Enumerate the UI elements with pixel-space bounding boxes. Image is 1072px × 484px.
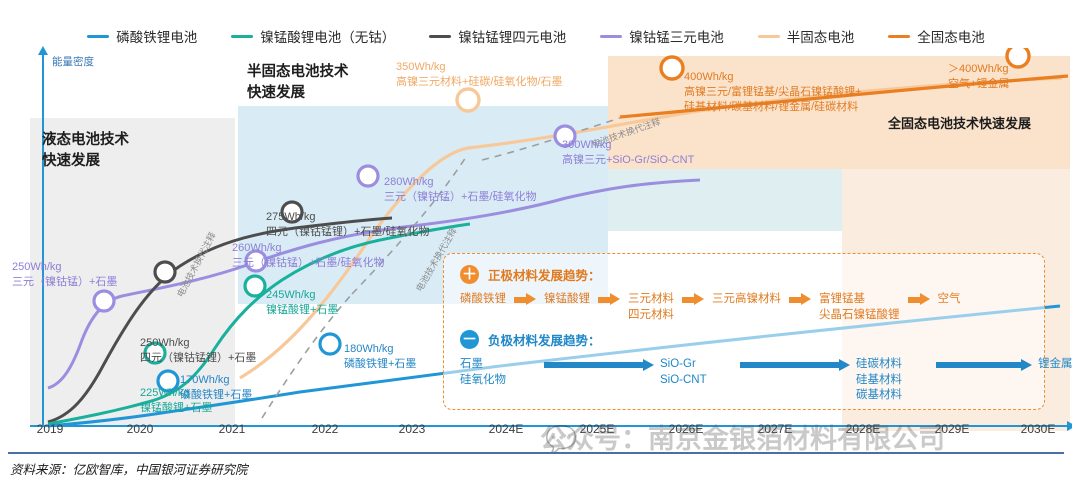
annotation-nmo-245-material: 镍锰酸锂+石墨 (266, 303, 338, 318)
cathode-node-6-line1: 空气 (938, 292, 961, 308)
cathode-title: 正极材料发展趋势： (488, 265, 601, 284)
x-tick-2019: 2019 (37, 422, 64, 436)
anode-title: 负极材料发展趋势： (488, 330, 601, 349)
anode-node-3-line2: 硅基材料 (856, 373, 930, 389)
cathode-node-1: 磷酸铁锂 (460, 292, 506, 308)
anode-node-2-line1: SiO-Gr (660, 357, 734, 373)
annotation-ncm-280-material: 三元（镍钴锰）+石墨/硅氧化物 (384, 190, 536, 205)
footer-divider (8, 452, 1064, 454)
annotation-solid-400-value: 400Wh/kg (684, 70, 862, 85)
legend-swatch-quaternary (429, 35, 451, 38)
marker-ncm-300 (358, 166, 378, 186)
annotation-quad-275: 275Wh/kg 四元（镍钴锰锂）+石墨/硅氧化物 (266, 210, 429, 240)
cathode-node-3-line1: 三元材料 (628, 292, 674, 308)
legend-swatch-nmo (231, 35, 253, 38)
plus-icon: ＋ (460, 265, 479, 284)
annotation-ncm-280: 280Wh/kg 三元（镍钴锰）+石墨/硅氧化物 (384, 175, 536, 205)
annotation-quad-250-value: 250Wh/kg (140, 336, 256, 351)
marker-lfp-180 (320, 334, 340, 354)
annotation-solid-400plus-value: ＞400Wh/kg (948, 62, 1009, 77)
annotation-ncm-260-value: 260Wh/kg (232, 241, 384, 256)
marker-ncm-250 (94, 291, 114, 311)
anode-node-2-line2: SiO-CNT (660, 373, 734, 389)
legend-label-lfp: 磷酸铁锂电池 (116, 26, 197, 46)
annotation-quad-250-material: 四元（镍钴锰锂）+石墨 (140, 351, 256, 366)
cathode-node-4: 三元高镍材料 (712, 292, 781, 308)
annotation-semi-350-value: 350Wh/kg (396, 60, 563, 75)
annotation-solid-400plus: ＞400Wh/kg 空气+锂金属 (948, 62, 1009, 92)
minus-icon: － (460, 330, 479, 349)
annotation-quad-275-material: 四元（镍钴锰锂）+石墨/硅氧化物 (266, 225, 429, 240)
chart-plot-area: 能量密度 液态电池技术 快速发展 半固态电池技术 快速发展 全固态电池技术快速发… (0, 48, 1072, 428)
annotation-ncm-250-value: 250Wh/kg (12, 260, 117, 275)
x-tick-2020: 2020 (127, 422, 154, 436)
cathode-node-5-line2: 尖晶石镍锰酸锂 (819, 308, 900, 324)
legend-label-quaternary: 镍钴锰锂四元电池 (458, 26, 566, 46)
anode-node-3-line3: 碳基材料 (856, 388, 930, 404)
annotation-lfp-170-material: 磷酸铁锂+石墨 (180, 388, 252, 403)
anode-title-row: － 负极材料发展趋势： (460, 330, 601, 349)
annotation-solid-400: 400Wh/kg 高镍三元/富锂锰基/尖晶石镍锰酸锂+ 硅基材料/碳基材料/锂金… (684, 70, 862, 115)
cathode-node-3-line2: 四元材料 (628, 308, 674, 324)
anode-node-3: 硅碳材料 硅基材料 碳基材料 (856, 357, 930, 404)
anode-node-1: 石墨 硅氧化物 (460, 357, 538, 388)
legend-label-allsolid: 全固态电池 (917, 26, 985, 46)
cathode-node-5-line1: 富锂锰基 (819, 292, 900, 308)
anode-node-2: SiO-Gr SiO-CNT (660, 357, 734, 388)
anode-node-1-line1: 石墨 (460, 357, 538, 373)
arrow-right-icon (682, 294, 704, 305)
annotation-ncm-300-value: 300Wh/kg (562, 138, 694, 153)
legend-label-ncm: 镍钴锰三元电池 (629, 26, 724, 46)
x-tick-2024E: 2024E (489, 422, 524, 436)
x-tick-2030E: 2030E (1021, 422, 1056, 436)
legend-swatch-ncm (600, 35, 622, 38)
annotation-ncm-260: 260Wh/kg 三元（镍钴锰）+石墨/硅氧化物 (232, 241, 384, 271)
legend-item-ncm: 镍钴锰三元电池 (600, 26, 724, 46)
cathode-node-3: 三元材料 四元材料 (628, 292, 674, 323)
arrow-right-icon (544, 359, 654, 370)
annotation-quad-275-value: 275Wh/kg (266, 210, 429, 225)
annotation-lfp-180-value: 180Wh/kg (344, 342, 416, 357)
arrow-right-icon (514, 294, 536, 305)
arrow-right-icon (789, 294, 811, 305)
annotation-semi-350-material: 高镍三元材料+硅碳/硅氧化物/石墨 (396, 75, 563, 90)
arrow-right-icon (598, 294, 620, 305)
annotation-lfp-180: 180Wh/kg 磷酸铁锂+石墨 (344, 342, 416, 372)
cathode-chain: 磷酸铁锂 镍锰酸锂 三元材料 四元材料 三元高镍材料 富锂锰基 尖晶石镍锰酸锂 (460, 292, 961, 323)
cathode-node-1-line1: 磷酸铁锂 (460, 292, 506, 308)
annotation-solid-400-material-line2: 硅基材料/碳基材料/锂金属/硅碳材料 (684, 100, 862, 115)
cathode-node-2-line1: 镍锰酸锂 (544, 292, 590, 308)
annotation-semi-350: 350Wh/kg 高镍三元材料+硅碳/硅氧化物/石墨 (396, 60, 563, 90)
cathode-node-2: 镍锰酸锂 (544, 292, 590, 308)
x-tick-2021: 2021 (219, 422, 246, 436)
arrow-right-icon (740, 359, 850, 370)
source-note: 资料来源：亿欧智库，中国银河证券研究院 (10, 459, 248, 478)
annotation-solid-400-material-line1: 高镍三元/富锂锰基/尖晶石镍锰酸锂+ (684, 85, 862, 100)
legend-label-semisolid: 半固态电池 (787, 26, 855, 46)
legend-swatch-allsolid (888, 35, 910, 38)
annotation-ncm-300: 300Wh/kg 高镍三元+SiO-Gr/SiO-CNT (562, 138, 694, 168)
annotation-lfp-170: 170Wh/kg 磷酸铁锂+石墨 (180, 373, 252, 403)
cathode-node-5: 富锂锰基 尖晶石镍锰酸锂 (819, 292, 900, 323)
cathode-title-row: ＋ 正极材料发展趋势： (460, 265, 601, 284)
anode-node-4: 锂金属 (1038, 357, 1072, 373)
anode-chain: 石墨 硅氧化物 SiO-Gr SiO-CNT 硅碳材料 硅基材料 碳基材料 锂金… (460, 357, 1072, 404)
arrow-right-icon (908, 294, 930, 305)
annotation-solid-400plus-material: 空气+锂金属 (948, 77, 1009, 92)
annotation-ncm-260-material: 三元（镍钴锰）+石墨/硅氧化物 (232, 256, 384, 271)
annotation-lfp-170-value: 170Wh/kg (180, 373, 252, 388)
arrow-right-icon (936, 359, 1032, 370)
annotation-ncm-250-material: 三元（镍钴锰）+石墨 (12, 275, 117, 290)
material-trends-inset: ＋ 正极材料发展趋势： 磷酸铁锂 镍锰酸锂 三元材料 四元材料 三元高镍材料 富… (443, 253, 1045, 410)
x-tick-2023: 2023 (399, 422, 426, 436)
legend-item-semisolid: 半固态电池 (758, 26, 855, 46)
legend-item-nmo: 镍锰酸锂电池（无钴） (231, 26, 395, 46)
legend-item-quaternary: 镍钴锰锂四元电池 (429, 26, 566, 46)
annotation-lfp-180-material: 磷酸铁锂+石墨 (344, 357, 416, 372)
anode-node-3-line1: 硅碳材料 (856, 357, 930, 373)
annotation-quad-250: 250Wh/kg 四元（镍钴锰锂）+石墨 (140, 336, 256, 366)
cathode-node-6: 空气 (938, 292, 961, 308)
marker-quad-250 (155, 262, 175, 282)
anode-node-1-line2: 硅氧化物 (460, 373, 538, 389)
annotation-nmo-225-material: 镍锰酸锂+石墨 (140, 401, 212, 416)
annotation-nmo-245: 245Wh/kg 镍锰酸锂+石墨 (266, 288, 338, 318)
marker-nmo-245 (245, 276, 265, 296)
annotation-ncm-280-value: 280Wh/kg (384, 175, 536, 190)
chart-legend: 磷酸铁锂电池 镍锰酸锂电池（无钴） 镍钴锰锂四元电池 镍钴锰三元电池 半固态电池… (0, 24, 1072, 48)
legend-swatch-semisolid (758, 35, 780, 38)
cathode-node-4-line1: 三元高镍材料 (712, 292, 781, 308)
annotation-ncm-300-material: 高镍三元+SiO-Gr/SiO-CNT (562, 153, 694, 168)
annotation-ncm-250: 250Wh/kg 三元（镍钴锰）+石墨 (12, 260, 117, 290)
marker-solid-400 (661, 57, 683, 79)
legend-item-allsolid: 全固态电池 (888, 26, 985, 46)
x-tick-2022: 2022 (312, 422, 339, 436)
annotation-nmo-245-value: 245Wh/kg (266, 288, 338, 303)
marker-solid-400plus (1007, 48, 1029, 67)
legend-label-nmo: 镍锰酸锂电池（无钴） (260, 26, 395, 46)
legend-item-lfp: 磷酸铁锂电池 (87, 26, 197, 46)
legend-swatch-lfp (87, 35, 109, 38)
anode-node-4-line1: 锂金属 (1038, 357, 1072, 373)
watermark-text: 公众号：南京金银箔材料有限公司 (540, 417, 945, 456)
marker-semi-350 (457, 89, 479, 111)
